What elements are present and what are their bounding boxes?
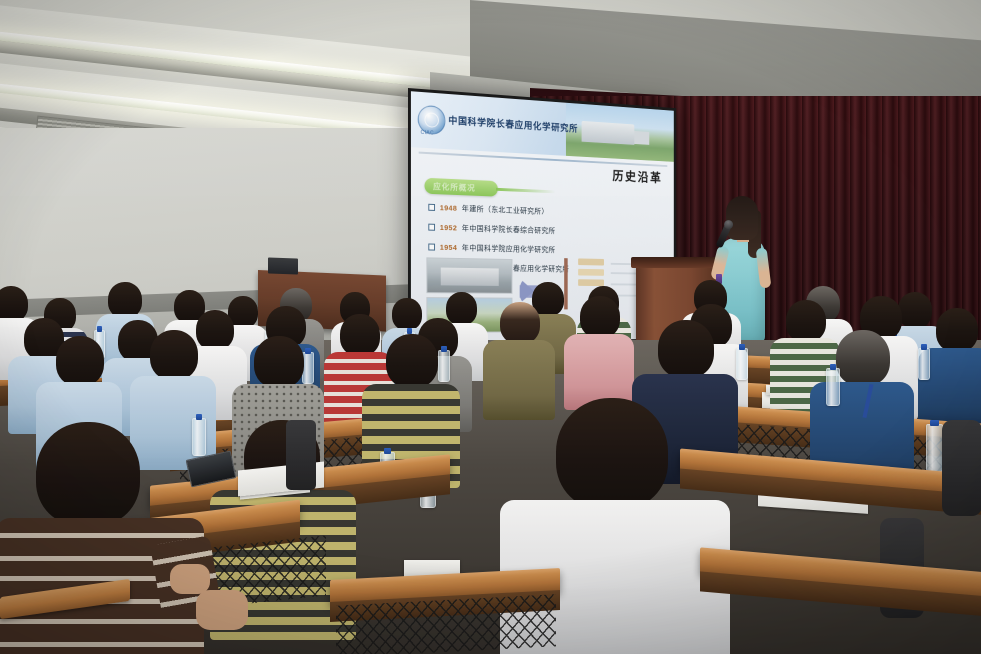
hand	[196, 590, 248, 630]
timeline-axis	[564, 258, 568, 309]
hand	[170, 564, 210, 594]
slide-tab-taper	[496, 188, 555, 193]
slide-section-tab-label: 应化所概况	[433, 181, 476, 194]
bullet-year: 1952	[440, 223, 457, 232]
chair-back	[942, 420, 981, 516]
bullet-year: 1948	[440, 203, 457, 213]
water-bottle	[438, 350, 450, 382]
slide-bullet: 1954 年中国科学院应用化学研究所	[428, 242, 659, 258]
water-bottle	[918, 348, 930, 380]
slide-organization: 中国科学院长春应用化学研究所	[448, 113, 578, 135]
lecture-hall-photo: CIAC 中国科学院长春应用化学研究所 历史沿革 应化所概况 1948 年建所（…	[0, 0, 981, 654]
timeline-tag	[578, 279, 604, 286]
slide-bullet: 1948 年建所（东北工业研究所）	[428, 202, 659, 221]
bullet-box-icon	[428, 204, 435, 211]
bullet-text: 年中国科学院应用化学研究所	[462, 242, 556, 255]
bullet-text: 年中国科学院长春综合研究所	[462, 223, 556, 236]
slide-title: 历史沿革	[612, 166, 662, 186]
logo-caption: CIAC	[421, 130, 434, 137]
presenter-hair	[726, 196, 758, 240]
slide-header-photo	[566, 103, 674, 162]
slide-bullet: 1952 年中国科学院长春综合研究所	[428, 222, 659, 239]
timeline-tag	[578, 258, 604, 265]
slide-section-tab: 应化所概况	[424, 178, 497, 197]
bullet-year: 1954	[440, 243, 457, 252]
bullet-box-icon	[428, 243, 435, 250]
chair-back	[286, 420, 316, 490]
water-bottle	[826, 368, 840, 406]
water-bottle	[736, 348, 748, 380]
bullet-box-icon	[428, 224, 435, 231]
desk-book-rack	[336, 594, 556, 654]
bullet-text: 年建所（东北工业研究所）	[462, 203, 549, 217]
water-bottle	[926, 424, 943, 472]
historic-building-photo	[426, 257, 512, 293]
timeline-tag	[578, 269, 604, 276]
laptop-icon	[268, 257, 298, 274]
water-bottle	[192, 418, 206, 456]
